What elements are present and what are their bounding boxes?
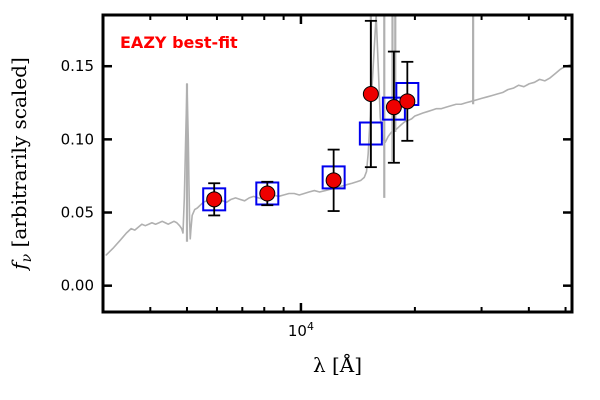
y-tick-label: 0.00 <box>61 277 94 295</box>
y-tick-label: 0.15 <box>61 57 94 75</box>
x-tick-label-exponent: 4 <box>307 320 314 333</box>
y-axis-title-group: fν [arbitrarily scaled] <box>7 57 35 272</box>
observed-photometry-point[interactable] <box>363 87 378 102</box>
axes-frame <box>103 15 572 312</box>
y-axis-title: fν [arbitrarily scaled] <box>7 57 35 272</box>
sed-plot-figure: 1040.000.050.100.15λ [Å]fν [arbitrarily … <box>0 0 600 400</box>
x-tick-label-base: 10 <box>288 322 307 340</box>
observed-photometry-point[interactable] <box>386 100 401 115</box>
observed-photometry-point[interactable] <box>326 173 341 188</box>
observed-photometry-point[interactable] <box>400 94 415 109</box>
plot-canvas: 1040.000.050.100.15λ [Å]fν [arbitrarily … <box>0 0 600 400</box>
x-tick-label: 104 <box>288 320 314 340</box>
x-axis-title: λ [Å] <box>313 352 362 377</box>
eazy-best-fit-annotation: EAZY best-fit <box>120 33 238 52</box>
y-tick-label: 0.05 <box>61 204 94 222</box>
observed-photometry-point[interactable] <box>207 192 222 207</box>
observed-photometry-point[interactable] <box>260 186 275 201</box>
y-axis-title-rest: [arbitrarily scaled] <box>7 57 31 254</box>
y-tick-label: 0.10 <box>61 130 94 148</box>
